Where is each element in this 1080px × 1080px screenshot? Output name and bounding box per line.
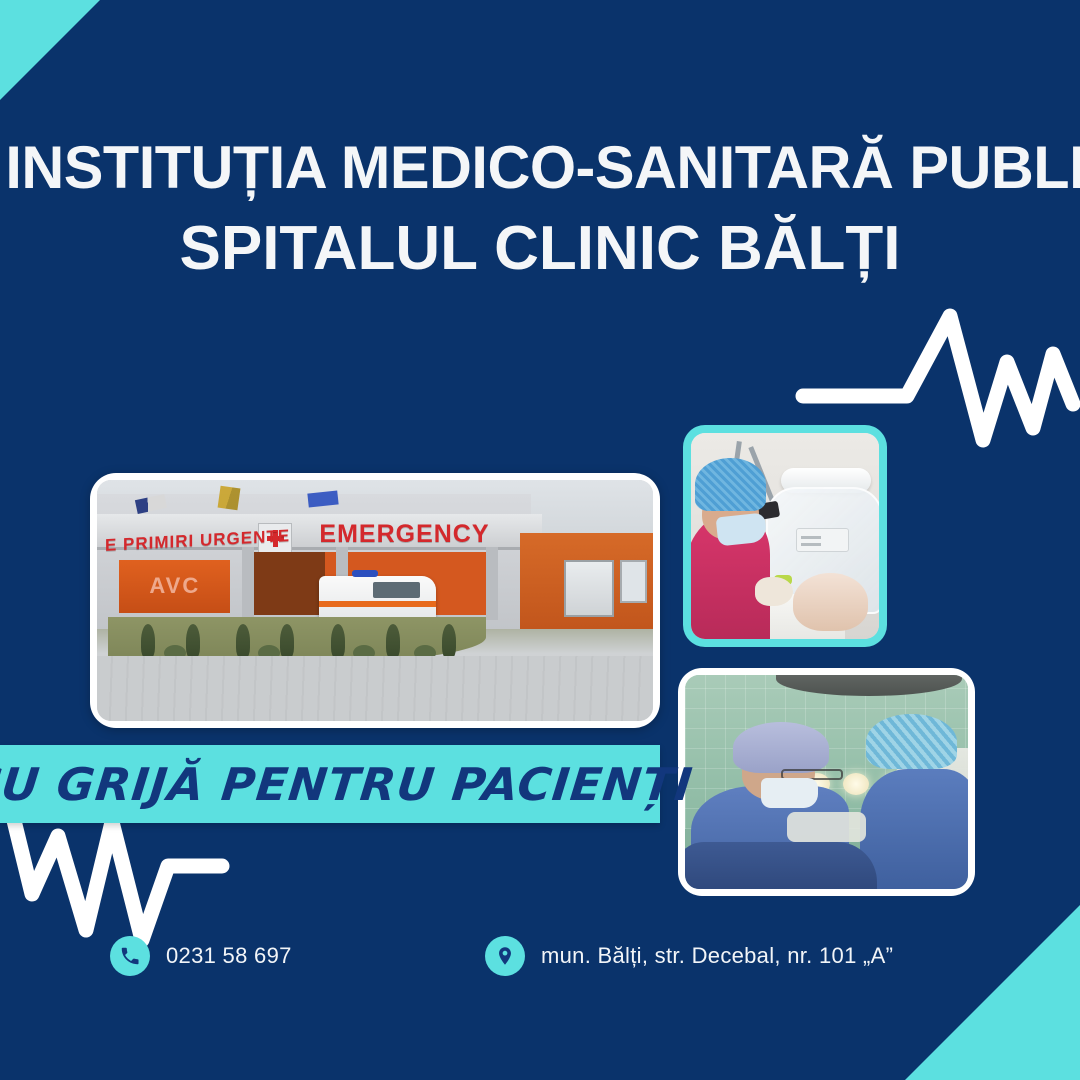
- contact-address[interactable]: mun. Bălți, str. Decebal, nr. 101 „A”: [485, 936, 893, 976]
- sign-emergency: EMERGENCY: [319, 520, 489, 549]
- contact-phone[interactable]: 0231 58 697: [110, 936, 292, 976]
- corner-triangle-bottom-right: [905, 905, 1080, 1080]
- slogan-text: CU GRIJĂ PENTRU PACIENȚI: [0, 758, 696, 811]
- slogan-banner: CU GRIJĂ PENTRU PACIENȚI: [0, 745, 660, 823]
- photo-emergency-entrance: EMERGENCY E PRIMIRI URGENTE AVC: [90, 473, 660, 728]
- address-text: mun. Bălți, str. Decebal, nr. 101 „A”: [541, 943, 893, 969]
- phone-number: 0231 58 697: [166, 943, 292, 969]
- corner-triangle-top-left: [0, 0, 100, 100]
- photo-neonatal-care: [683, 425, 887, 647]
- sign-avc: AVC: [149, 573, 200, 599]
- photo-surgery-team: [678, 668, 975, 896]
- poster-canvas: INSTITUȚIA MEDICO-SANITARĂ PUBLICĂ SPITA…: [0, 0, 1080, 1080]
- title-line-2: SPITALUL CLINIC BĂLȚI: [0, 218, 1080, 280]
- phone-icon: [110, 936, 150, 976]
- location-pin-icon: [485, 936, 525, 976]
- title-line-1: INSTITUȚIA MEDICO-SANITARĂ PUBLICĂ: [5, 138, 1074, 198]
- page-title: INSTITUȚIA MEDICO-SANITARĂ PUBLICĂ SPITA…: [0, 138, 1080, 280]
